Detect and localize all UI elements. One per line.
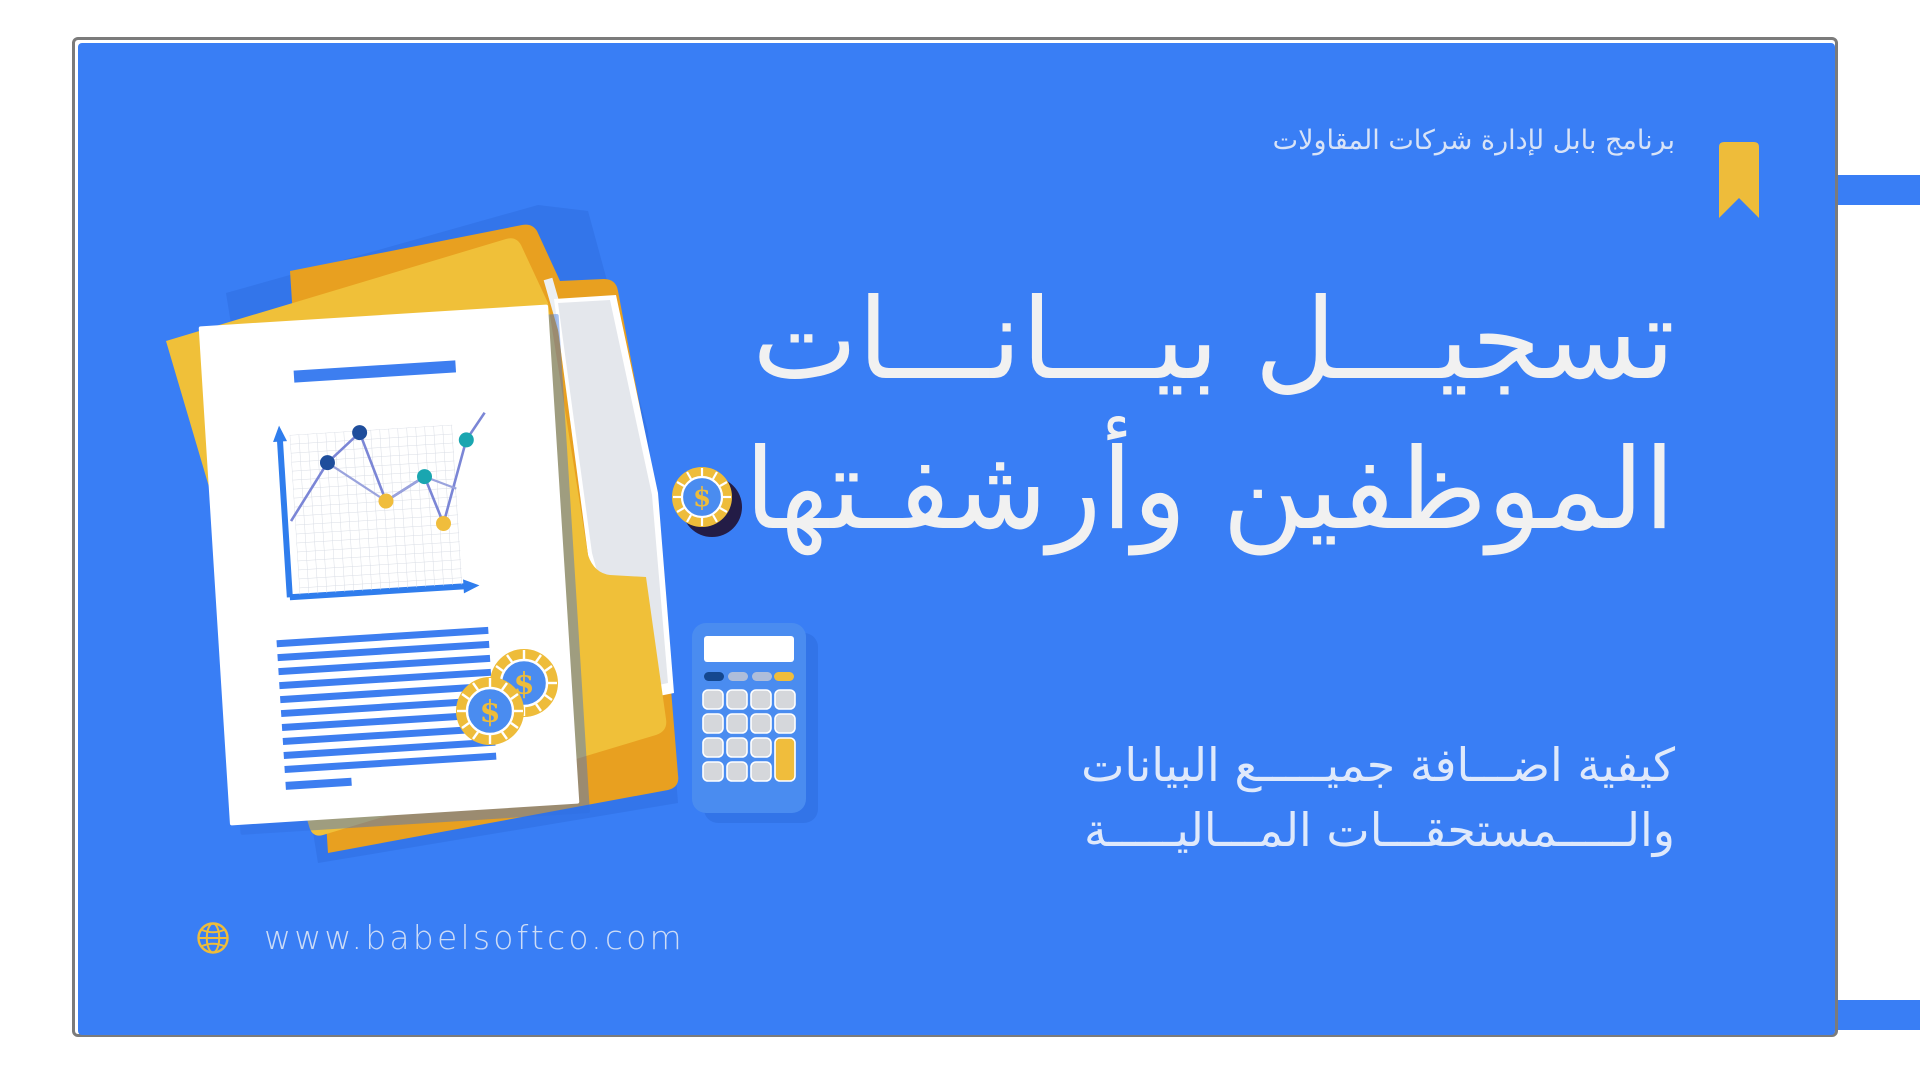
calculator [692, 623, 818, 823]
svg-text:$: $ [693, 483, 711, 513]
website-url-text: www.babelsoftco.com [264, 918, 685, 957]
calculator-pill-key [752, 672, 772, 681]
calculator-pill-key [774, 672, 794, 681]
main-blue-panel: برنامج بابل لإدارة شركات المقاولات تسجيـ… [78, 43, 1835, 1035]
footer-website[interactable]: www.babelsoftco.com [196, 918, 685, 957]
brand-tagline: برنامج بابل لإدارة شركات المقاولات [1273, 125, 1675, 156]
gold-coin-single: $ [672, 467, 742, 537]
svg-text:$: $ [480, 695, 501, 730]
bookmark-icon [1715, 141, 1763, 219]
calculator-display [704, 636, 794, 662]
documents-folder-calculator-illustration: $ [118, 163, 848, 893]
globe-icon [196, 921, 230, 955]
calculator-equals-key [775, 738, 795, 781]
poster-canvas: برنامج بابل لإدارة شركات المقاولات تسجيـ… [0, 0, 1920, 1080]
calculator-pill-key [704, 672, 724, 681]
calculator-pill-key [728, 672, 748, 681]
white-document [199, 305, 580, 826]
